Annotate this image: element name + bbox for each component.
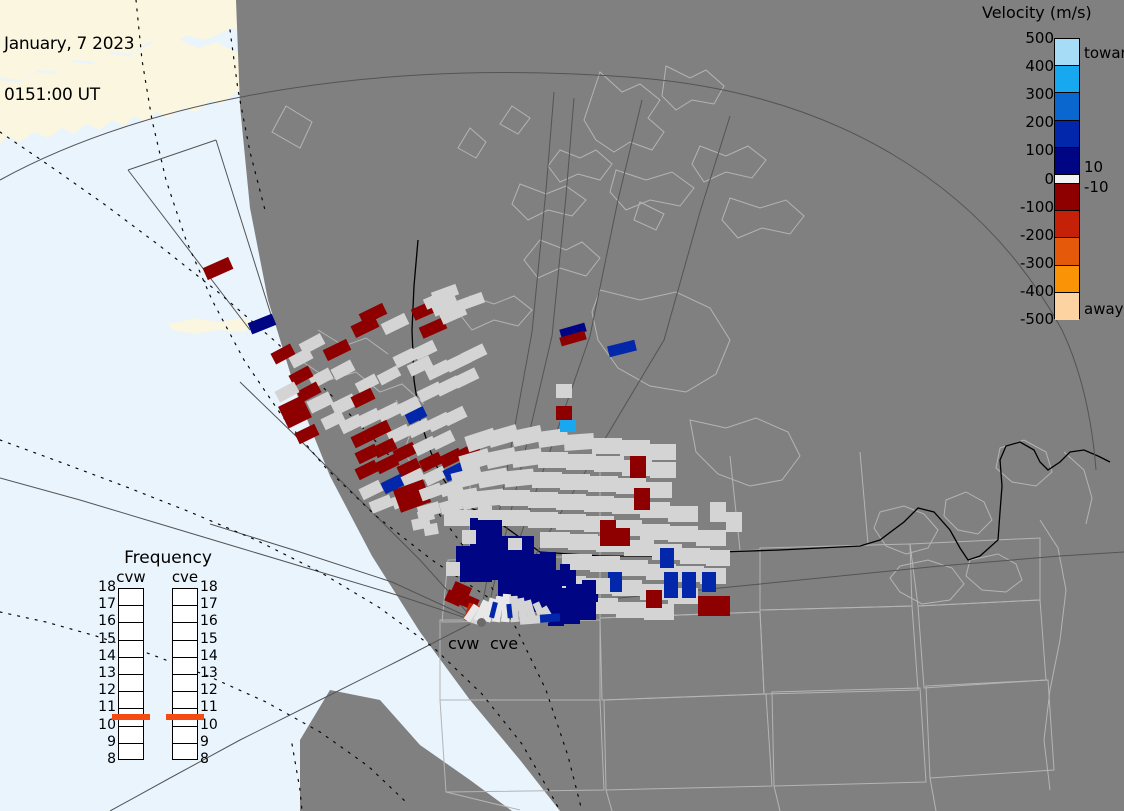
velocity-bin [560,420,576,432]
velocity-bin [528,492,558,508]
velocity-bin [614,528,630,546]
velocity-bin [616,602,646,618]
frequency-bar-segment [173,606,197,623]
colorbar-band [1055,293,1079,320]
velocity-bin [592,438,622,454]
velocity-bin [462,530,476,544]
colorbar-band [1055,39,1079,66]
velocity-bin [580,600,596,620]
velocity-bin [668,526,698,542]
station-label-cvw: cvw [448,634,479,653]
frequency-tick: 16 [200,613,226,629]
velocity-bin [568,534,598,550]
frequency-tick: 15 [90,631,116,647]
frequency-bar-segment [119,641,143,658]
frequency-tick: 11 [90,699,116,715]
velocity-bin [476,560,492,582]
frequency-tick: 17 [90,596,116,612]
frequency-marker-cvw [112,714,150,720]
colorbar-tick: -300 [1020,254,1054,272]
colorbar-title: Velocity (m/s) [982,3,1122,22]
colorbar-gradient [1054,38,1080,319]
colorbar-band [1055,175,1079,184]
velocity-bin [556,494,586,510]
velocity-bin [634,488,650,510]
velocity-bin [646,444,676,460]
frequency-bar-segment [173,623,197,640]
frequency-tick: 17 [200,596,226,612]
frequency-bar-segment [173,641,197,658]
station-marker-dot [477,618,486,627]
velocity-bin [698,596,714,616]
frequency-bar-segment [173,658,197,675]
colorbar-side-label: toward [1084,44,1124,62]
frequency-bar-segment [119,675,143,692]
velocity-bin [664,572,678,598]
colorbar-band [1055,66,1079,93]
velocity-bin [503,468,535,487]
colorbar-tick: -500 [1020,310,1054,328]
velocity-bin [446,562,460,576]
velocity-bin [702,572,716,592]
frequency-tick: 14 [200,648,226,664]
colorbar-band [1055,148,1079,175]
frequency-bar-cvw [118,588,144,760]
velocity-bin [588,476,618,492]
frequency-bar-segment [173,675,197,692]
velocity-bin [500,510,530,526]
velocity-bin [560,474,590,490]
colorbar-band [1055,93,1079,120]
colorbar-side-label: away [1084,300,1124,318]
frequency-marker-cve [166,714,204,720]
velocity-bin [646,590,662,608]
frequency-bar-segment [119,623,143,640]
velocity-bin [556,384,572,398]
velocity-bin [584,496,614,512]
velocity-bin [564,604,580,624]
velocity-bin [660,548,674,568]
colorbar-tick: -400 [1020,282,1054,300]
frequency-tick: 18 [200,579,226,595]
velocity-bin [532,472,562,488]
colorbar-tick: 300 [1025,85,1054,103]
timestamp-block: January, 7 2023 0151:00 UT [4,2,134,138]
colorbar-band [1055,238,1079,265]
frequency-tick: 9 [200,734,226,750]
velocity-bin [590,556,620,572]
velocity-bin [668,506,698,522]
colorbar-tick: -200 [1020,226,1054,244]
frequency-tick: 9 [90,734,116,750]
aleutian-arc-landmass [168,318,258,334]
colorbar-tick: 100 [1025,141,1054,159]
velocity-bin [594,456,624,472]
velocity-bin [566,454,596,470]
colorbar-tick: 0 [1044,170,1054,188]
frequency-tick: 8 [200,751,226,767]
frequency-tick: 12 [90,682,116,698]
frequency-bar-segment [173,589,197,606]
colorbar-band [1055,121,1079,148]
frequency-bar-segment [173,692,197,709]
frequency-legend-panel: Frequency cvw18171615141312111098cve1817… [88,548,248,798]
velocity-bin [596,578,610,594]
velocity-bin [640,524,670,540]
frequency-bar-segment [119,658,143,675]
velocity-bin [630,456,646,478]
velocity-bin [500,490,530,506]
frequency-bar-segment [119,727,143,744]
velocity-bin [706,550,730,566]
frequency-bar-segment [119,606,143,623]
velocity-bin [726,512,742,532]
date-label: January, 7 2023 [4,36,134,53]
frequency-bar-segment [119,589,143,606]
frequency-bar-segment [119,692,143,709]
velocity-bin [540,532,570,548]
frequency-bar-segment [173,744,197,761]
velocity-bin [608,572,622,592]
frequency-tick: 13 [90,665,116,681]
velocity-bin [478,506,492,520]
colorbar-band [1055,184,1079,211]
velocity-bin [710,502,726,522]
velocity-bin [570,556,584,570]
frequency-legend-title: Frequency [88,548,248,568]
frequency-bar-cve [172,588,198,760]
velocity-bin [696,530,726,546]
frequency-bar-segment [173,727,197,744]
frequency-tick: 14 [90,648,116,664]
velocity-bin [520,615,541,624]
frequency-tick: 13 [200,665,226,681]
velocity-bin [650,462,676,478]
frequency-tick: 12 [200,682,226,698]
colorbar-side-label: 10 [1084,158,1103,176]
velocity-bin [460,560,476,582]
colorbar-tick: 200 [1025,113,1054,131]
velocity-bin [556,406,572,420]
colorbar-tick: 400 [1025,57,1054,75]
velocity-bin [563,433,594,451]
velocity-bin [540,613,561,622]
frequency-tick: 11 [200,699,226,715]
velocity-bin [538,452,568,468]
radar-velocity-map-window: January, 7 2023 0151:00 UT Velocity (m/s… [0,0,1124,811]
colorbar-band [1055,211,1079,238]
frequency-tick: 15 [200,631,226,647]
station-label-cve: cve [490,634,518,653]
colorbar-side-label: -10 [1084,178,1109,196]
colorbar-band [1055,266,1079,293]
velocity-bin [618,560,648,576]
frequency-tick: 8 [90,751,116,767]
frequency-bar-segment [119,744,143,761]
time-label: 0151:00 UT [4,87,134,104]
velocity-colorbar-panel: Velocity (m/s) 5004003002001000-100-200-… [978,0,1124,330]
velocity-bin [528,512,558,528]
velocity-bin [556,514,586,530]
frequency-tick: 18 [90,579,116,595]
velocity-bin [714,596,730,616]
frequency-tick: 16 [90,613,116,629]
velocity-bin [508,538,522,550]
velocity-bin [682,572,696,598]
colorbar-tick: -100 [1020,198,1054,216]
colorbar-tick: 500 [1025,29,1054,47]
velocity-bin [486,520,502,542]
